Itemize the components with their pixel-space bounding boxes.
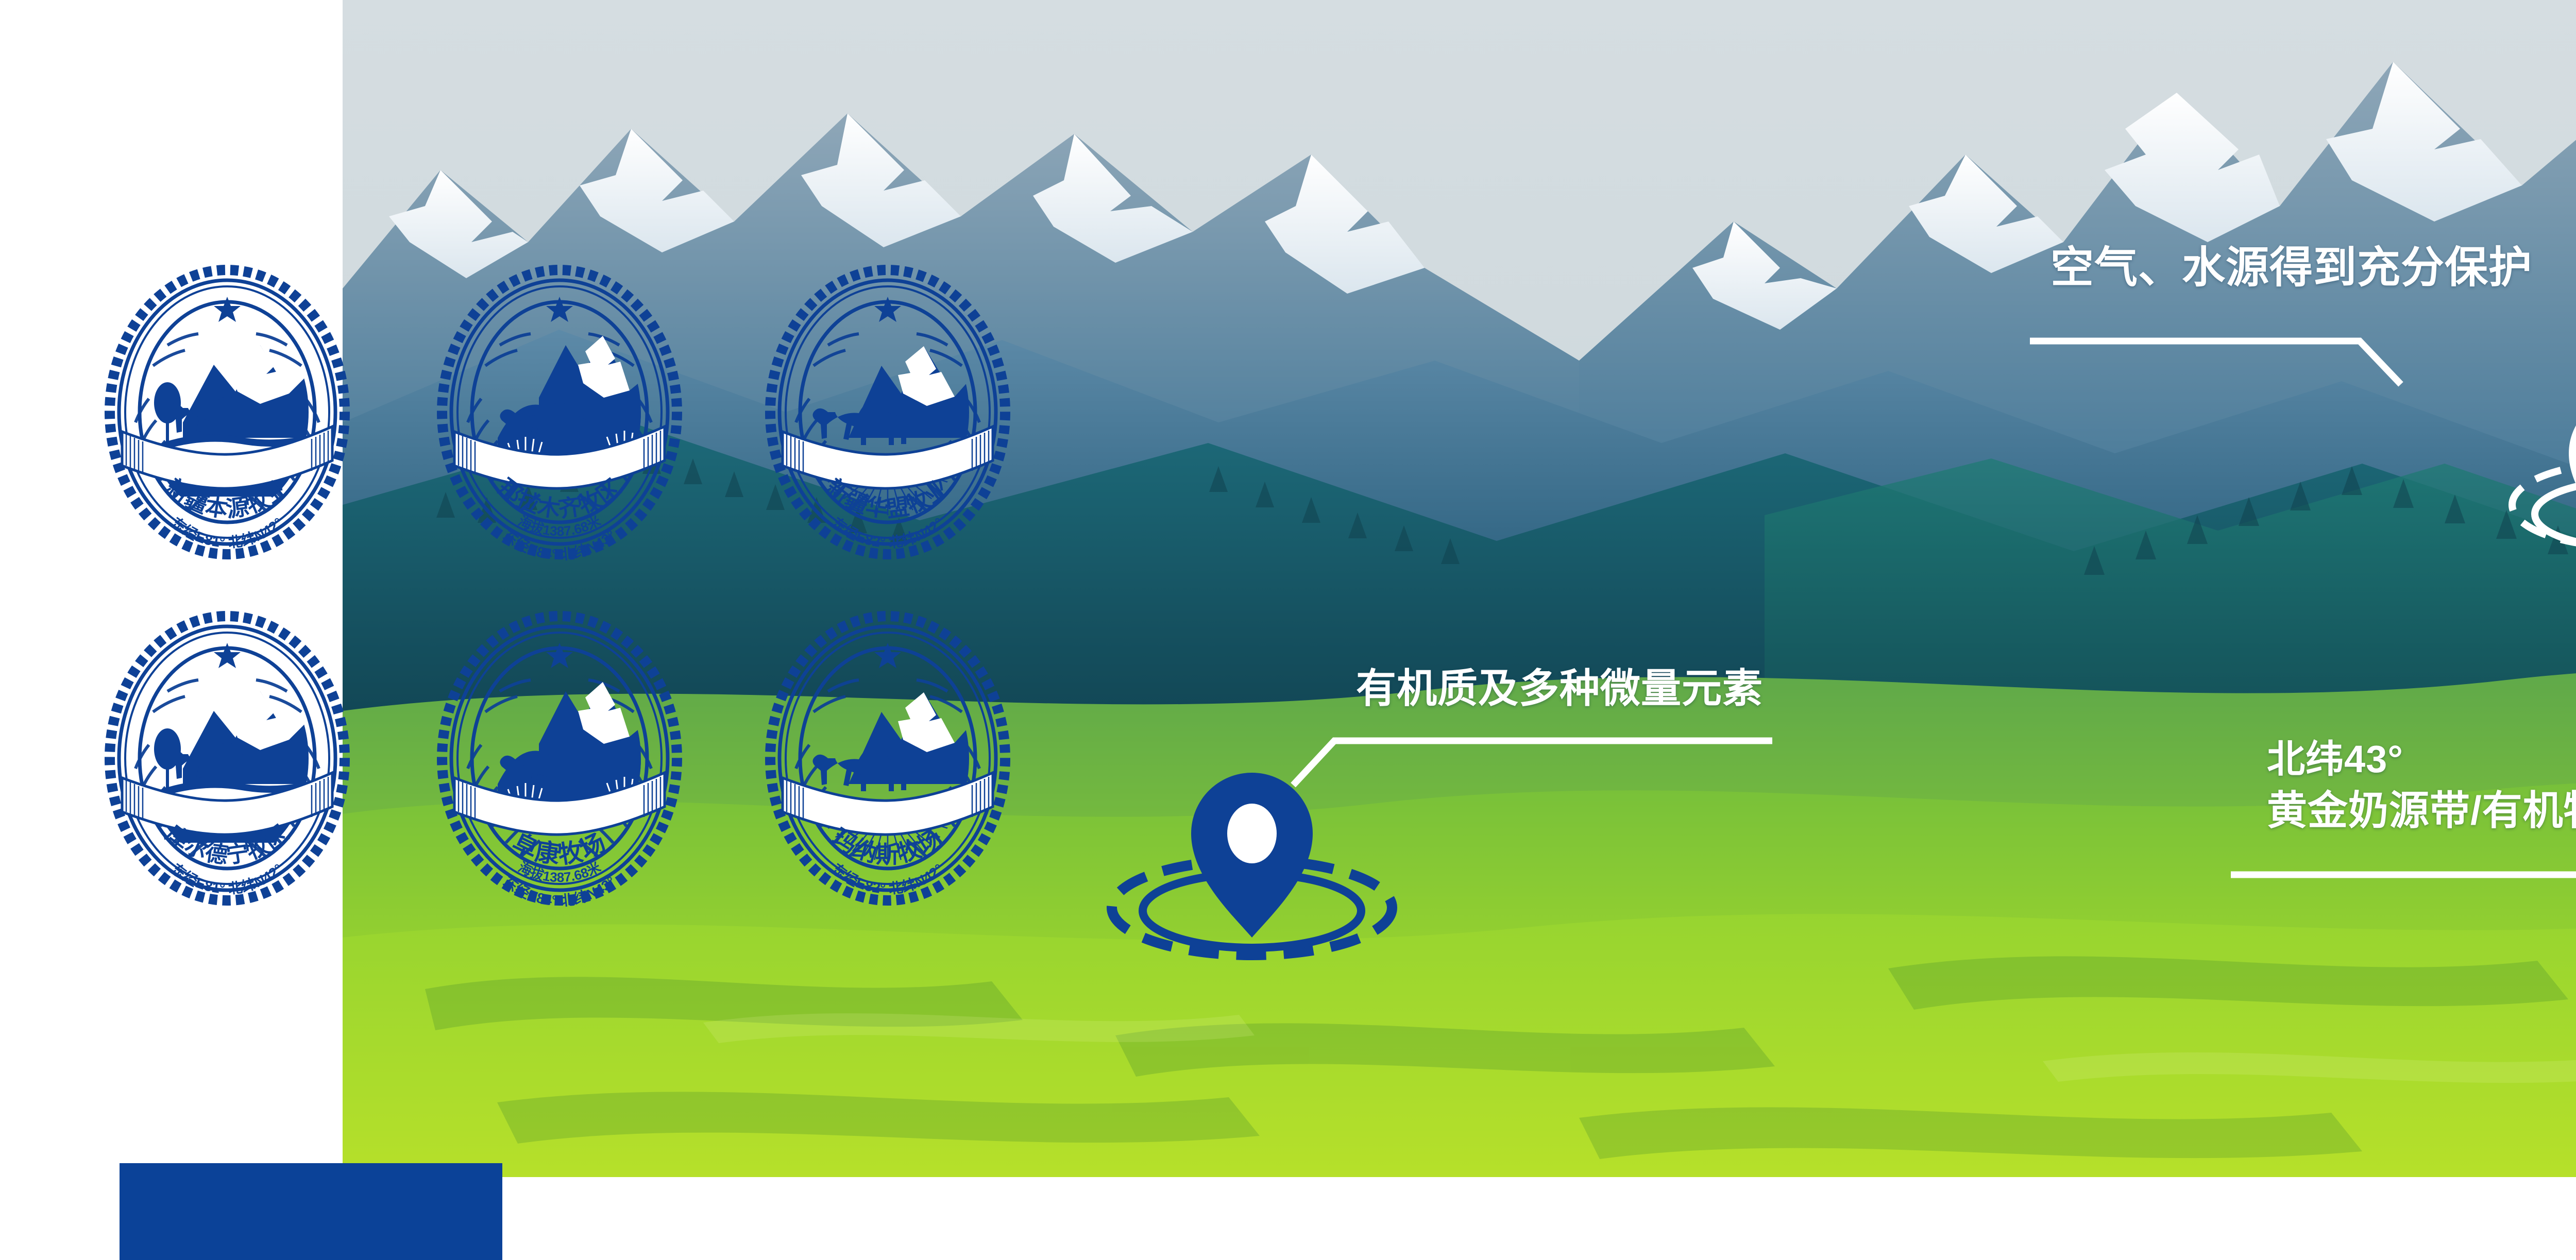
star-icon [546,297,573,322]
annotation-latitude-43: 北纬43° 黄金奶源带/有机牧场 [2267,737,2576,834]
landscape-illustration [343,0,2576,1177]
annotation-organic-matter: 有机质及多种微量元素 [1356,665,1763,712]
connector-latitude-43 [2231,865,2576,932]
star-icon [874,643,901,668]
pin-body [2569,396,2576,551]
badge-altitude: 海拔1387.68米 [516,513,603,539]
landscape-photo [343,0,2576,1177]
pin-hole [1227,804,1277,863]
annotation-air-water: 空气、水源得到充分保护 [2050,242,2532,293]
badge-xinjiang-benyuan[interactable]: 新疆本源牧业 东经E81° 北纬N42° [106,268,349,556]
annotation-latitude-43-line-2: 黄金奶源带/有机牧场 [2267,787,2576,834]
map-pin-organic-matter[interactable] [1087,747,1417,963]
annotation-organic-matter-line-1: 有机质及多种微量元素 [1356,665,1763,712]
map-pin-air-water[interactable] [2494,350,2576,567]
map-pin-latitude-43[interactable] [2566,871,2576,1118]
star-icon [214,297,241,322]
star-icon [546,643,573,668]
pin-ring-dashed [2512,463,2576,547]
badge-altitude: 海拔1387.68米 [516,859,603,885]
banner-stage: 空气、水源得到充分保护 有机质及多种微量元素 北纬43° 黄金奶源带/有机牧场 [0,0,2576,1260]
badge-nalamuqi[interactable]: 那拉木齐牧区 海拔1387.68米 东经E84° 北纬N43° [438,268,681,556]
bottom-left-blue-block [120,1163,502,1260]
star-icon [214,643,241,668]
badge-fukang[interactable]: 阜康牧场 海拔1387.68米 东经E84° 北纬N43° [438,614,681,903]
badge-xinjiang-huameng[interactable]: 新疆华盟牧业 东经E82° 北纬N42° [766,268,1009,556]
badge-manasi[interactable]: 玛纳斯牧场 东经E82° 北纬N42° [766,614,1009,903]
connector-air-water [2030,330,2421,397]
annotation-air-water-line-1: 空气、水源得到充分保护 [2050,242,2532,293]
pin-ring-solid [2535,481,2576,547]
annotation-latitude-43-line-1: 北纬43° [2267,737,2576,781]
star-icon [874,297,901,322]
badge-kuerdening[interactable]: 库尔德宁牧区 东经E81° 北纬N42° [106,614,349,903]
